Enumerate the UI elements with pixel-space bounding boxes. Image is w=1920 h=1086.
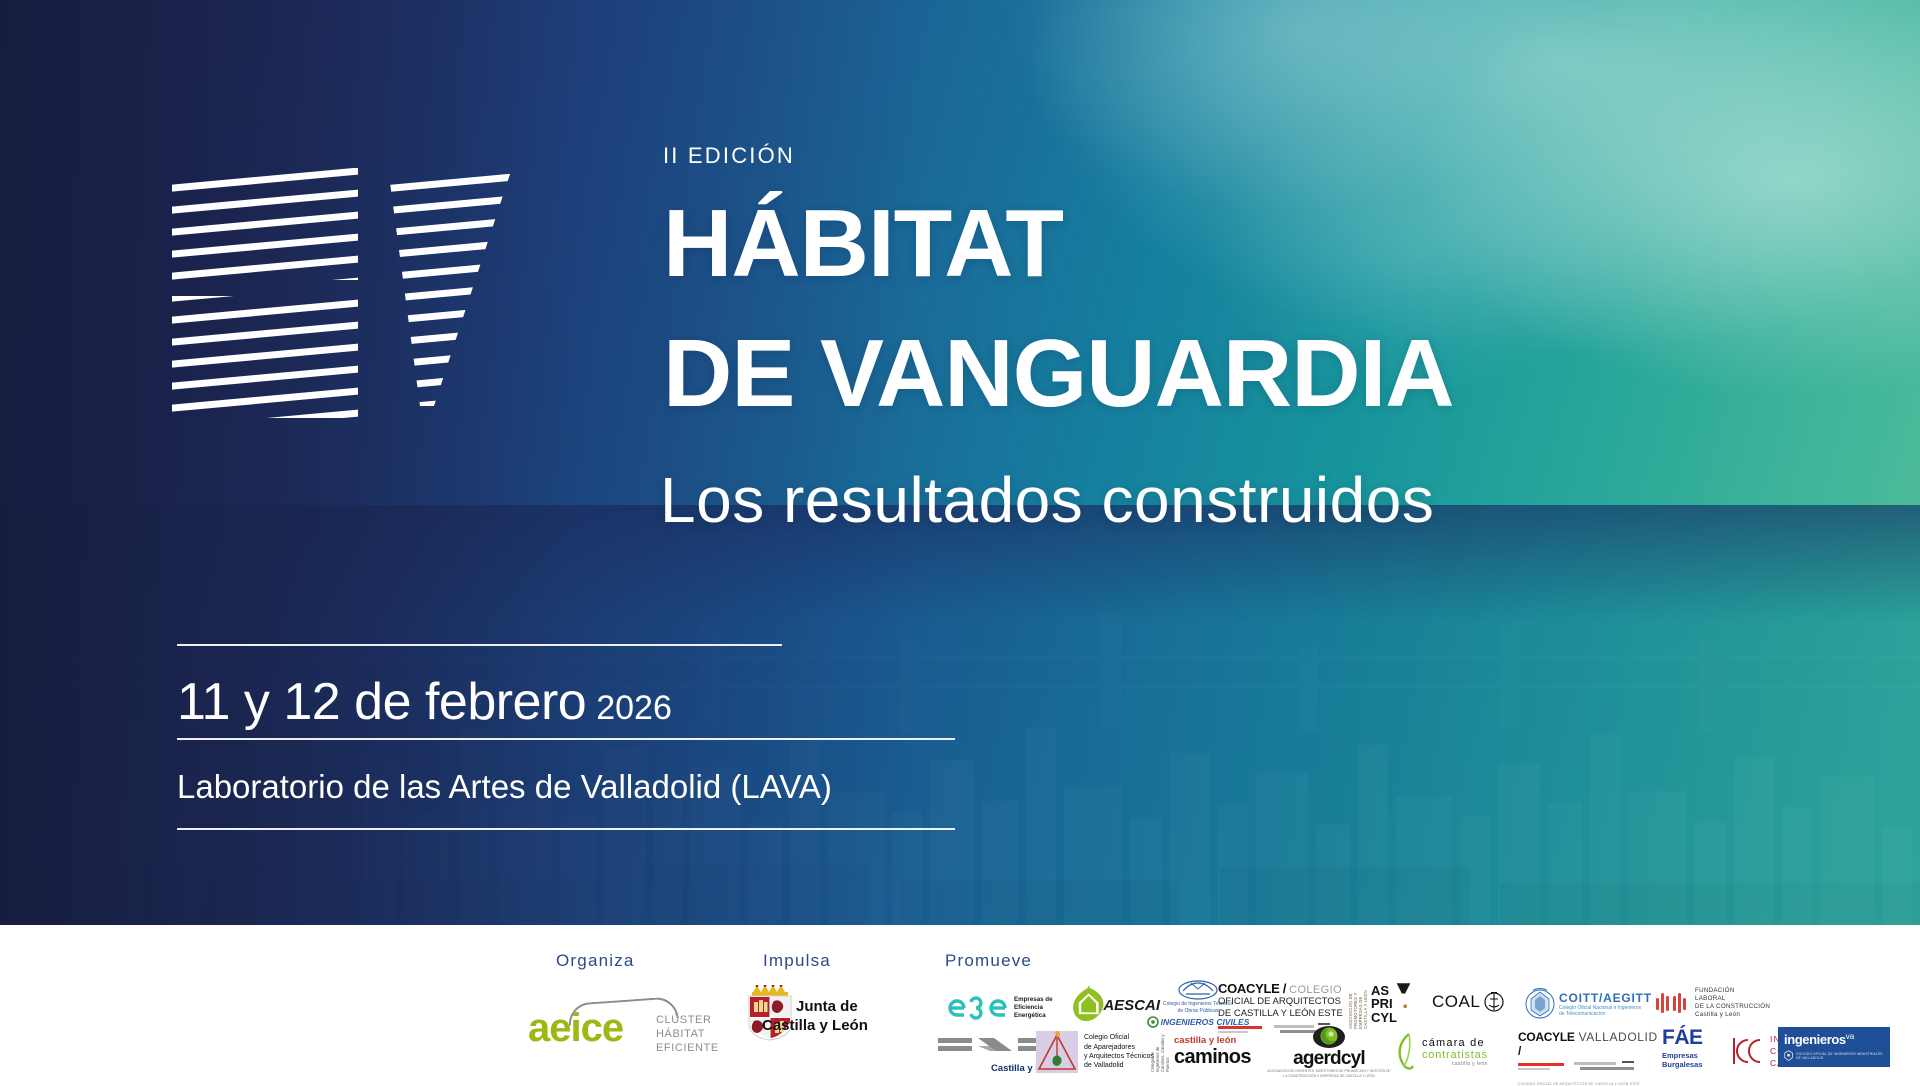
coitt-wordmark: COITT/AEGITT <box>1559 991 1652 1005</box>
fae-subtitle: Empresas Burgalesas <box>1662 1051 1722 1069</box>
ingva-sub-row: COLEGIO OFICIAL DE INGENIEROS INDUSTRIAL… <box>1784 1049 1884 1063</box>
logo-agerdcyl[interactable]: agerdcyl ASOCIACIÓN DE GERENTES, DIRECTO… <box>1265 1025 1393 1077</box>
logo-aeice[interactable]: aeice CLÚSTER HÁBITAT EFICIENTE <box>528 998 753 1050</box>
edition-label: II EDICIÓN <box>663 143 795 169</box>
coacyle-este-mark2: COLEGIO <box>1289 984 1342 996</box>
caminos-line1: castilla y león <box>1174 1035 1251 1046</box>
agerdcyl-wordmark: agerdcyl <box>1265 1049 1393 1068</box>
logo-aspricyl[interactable]: ASOCIACIÓN DE PROMOTORES Y EMPRESAS DE C… <box>1348 977 1412 1031</box>
a3e-mark-icon <box>948 996 1008 1020</box>
hv-monogram-icon <box>172 168 592 418</box>
coaat-line4: de Valladolid <box>1084 1061 1154 1070</box>
camara-leaf-icon <box>1395 1032 1419 1072</box>
coacyle-este-line2: DE CASTILLA Y LEÓN ESTE <box>1218 1008 1348 1020</box>
coitt-line2: de Telecomunicación <box>1559 1011 1652 1018</box>
divider-bottom <box>177 828 955 830</box>
agerdcyl-subtitle: ASOCIACIÓN DE GERENTES, DIRECTORES DE PR… <box>1265 1069 1393 1079</box>
coitt-text-block: COITT/AEGITT Colegio Oficial Nacional e … <box>1559 991 1652 1018</box>
ingva-crest-icon <box>1784 1049 1793 1063</box>
coaat-triangle-icon <box>1035 1030 1079 1074</box>
subtitle: Los resultados construidos <box>660 468 1434 532</box>
coaat-text-block: Colegio Oficial de Aparejadores y Arquit… <box>1084 1033 1154 1071</box>
fundacion-text-block: FUNDACIÓN LABORAL DE LA CONSTRUCCIÓN Cas… <box>1695 987 1770 1019</box>
title-line-1: HÁBITAT <box>663 196 1063 292</box>
logo-junta-castilla-leon[interactable]: Junta de Castilla y León <box>738 985 868 1055</box>
logo-ingenieros-valladolid[interactable]: ingenieros va COLEGIO OFICIAL DE INGENIE… <box>1778 1027 1890 1067</box>
fundacion-line1: FUNDACIÓN <box>1695 987 1770 995</box>
coal-wordmark: COAL <box>1432 992 1480 1012</box>
title-line-2: DE VANGUARDIA <box>663 326 1454 422</box>
event-date: 11 y 12 de febrero2026 <box>177 672 672 732</box>
logo-a3e[interactable]: Empresas de Eficiencia Energética <box>948 987 1068 1029</box>
logo-camara-contratistas[interactable]: cámara de contratistas castilla y león <box>1395 1030 1515 1074</box>
aspricyl-line3: CYL <box>1371 1011 1397 1024</box>
fae-line2: Burgalesas <box>1662 1060 1722 1069</box>
junta-line1: Junta de <box>796 999 858 1016</box>
ingva-superscript: va <box>1846 1032 1854 1041</box>
fundacion-bars-icon <box>1655 990 1689 1016</box>
iccl-mark-icon <box>1730 1034 1764 1068</box>
a3e-line2: Eficiencia <box>1014 1004 1053 1012</box>
aspricyl-stack: AS PRI CYL <box>1371 984 1397 1024</box>
coacyle-va-subtitle: COLEGIO OFICIAL DE ARQUITECTOS DE CASTIL… <box>1518 1082 1650 1086</box>
camara-line1: cámara de <box>1422 1037 1488 1049</box>
agerdcyl-swirl-icon <box>1312 1025 1346 1049</box>
ingva-subtitle: COLEGIO OFICIAL DE INGENIEROS INDUSTRIAL… <box>1796 1052 1884 1060</box>
logo-coacyle-valladolid[interactable]: COACYLE / VALLADOLID COLEGIO OFICIAL DE … <box>1518 1030 1650 1074</box>
hero-banner: II EDICIÓN HÁBITAT DE VANGUARDIA Los res… <box>0 0 1920 925</box>
logo-fae[interactable]: FÁE Empresas Burgalesas <box>1662 1027 1722 1075</box>
fundacion-line3: DE LA CONSTRUCCIÓN <box>1695 1003 1770 1011</box>
event-year: 2026 <box>596 689 672 727</box>
ingva-wordmark: ingenieros <box>1784 1032 1846 1047</box>
a3e-line3: Energética <box>1014 1012 1053 1020</box>
logo-caminos[interactable]: Colegio de Ingenieros de Caminos, Canale… <box>1150 1029 1268 1075</box>
fundacion-line2: LABORAL <box>1695 995 1770 1003</box>
coal-emblem-icon <box>1484 991 1504 1013</box>
event-venue: Laboratorio de las Artes de Valladolid (… <box>177 768 832 806</box>
logo-fundacion-laboral[interactable]: FUNDACIÓN LABORAL DE LA CONSTRUCCIÓN Cas… <box>1655 981 1800 1025</box>
coacyle-este-title-row: COACYLE / COLEGIO <box>1218 981 1348 996</box>
section-label-impulsa: Impulsa <box>763 951 831 971</box>
divider-middle <box>177 738 955 740</box>
coacyle-este-subtitle: OFICIAL DE ARQUITECTOS DE CASTILLA Y LEÓ… <box>1218 996 1348 1020</box>
coacyle-este-mark: COACYLE / <box>1218 981 1286 996</box>
aeice-wordmark: aeice <box>528 1006 623 1051</box>
aspricyl-side-text: ASOCIACIÓN DE PROMOTORES Y EMPRESAS DE C… <box>1348 979 1368 1029</box>
caminos-wordmark-row: caminos <box>1174 1046 1251 1069</box>
aspricyl-flag-icon <box>1395 981 1412 1011</box>
camara-line2: contratistas <box>1422 1049 1488 1061</box>
coacyle-va-title-row: COACYLE / VALLADOLID <box>1518 1030 1650 1058</box>
logo-coacyle-este[interactable]: COACYLE / COLEGIO OFICIAL DE ARQUITECTOS… <box>1218 981 1348 1029</box>
gear-icon <box>1147 1016 1159 1028</box>
coaat-line2: de Aparejadores <box>1084 1043 1154 1052</box>
coacyle-va-bars-icon <box>1518 1061 1646 1075</box>
ingva-title-row: ingenieros va <box>1784 1032 1884 1047</box>
coacyle-este-line1: OFICIAL DE ARQUITECTOS <box>1218 996 1348 1008</box>
sponsor-footer: Organiza Impulsa Promueve aeice CLÚSTER … <box>0 925 1920 1080</box>
caminos-wordmark: caminos <box>1174 1046 1251 1069</box>
aspricyl-line2: PRI <box>1371 997 1397 1010</box>
section-label-organiza: Organiza <box>556 951 635 971</box>
a3e-line1: Empresas de <box>1014 996 1053 1004</box>
ingenieros-civiles-crest-icon <box>1177 979 1219 1001</box>
coaat-line3: y Arquitectos Técnicos <box>1084 1052 1154 1061</box>
section-label-promueve: Promueve <box>945 951 1032 971</box>
logo-coitt-aegitt[interactable]: COITT/AEGITT Colegio Oficial Nacional e … <box>1525 983 1655 1025</box>
fae-line1: Empresas <box>1662 1051 1722 1060</box>
coacyle-va-mark: COACYLE / <box>1518 1030 1575 1058</box>
junta-line2: Castilla y León <box>762 1018 868 1035</box>
aspricyl-line1: AS <box>1371 984 1397 997</box>
caminos-text-block: castilla y león caminos <box>1174 1035 1251 1069</box>
divider-top <box>177 644 782 646</box>
camara-text-block: cámara de contratistas castilla y león <box>1422 1037 1488 1067</box>
coacyle-va-mark2: VALLADOLID <box>1579 1030 1658 1044</box>
caminos-side-text: Colegio de Ingenieros de Caminos, Canale… <box>1150 1032 1170 1072</box>
logo-coaat-valladolid[interactable]: Colegio Oficial de Aparejadores y Arquit… <box>1035 1028 1155 1076</box>
fae-wordmark: FÁE <box>1662 1027 1722 1048</box>
event-date-text: 11 y 12 de febrero <box>177 673 586 731</box>
coaat-line1: Colegio Oficial <box>1084 1033 1154 1042</box>
camara-line3: castilla y león <box>1422 1061 1488 1067</box>
fundacion-line4: Castilla y León <box>1695 1011 1770 1019</box>
logo-coal[interactable]: COAL <box>1432 987 1512 1017</box>
coitt-subtitle: Colegio Oficial Nacional e Ingenieros de… <box>1559 1005 1652 1018</box>
coitt-crest-icon <box>1525 988 1555 1020</box>
a3e-tagline: Empresas de Eficiencia Energética <box>1014 996 1053 1020</box>
